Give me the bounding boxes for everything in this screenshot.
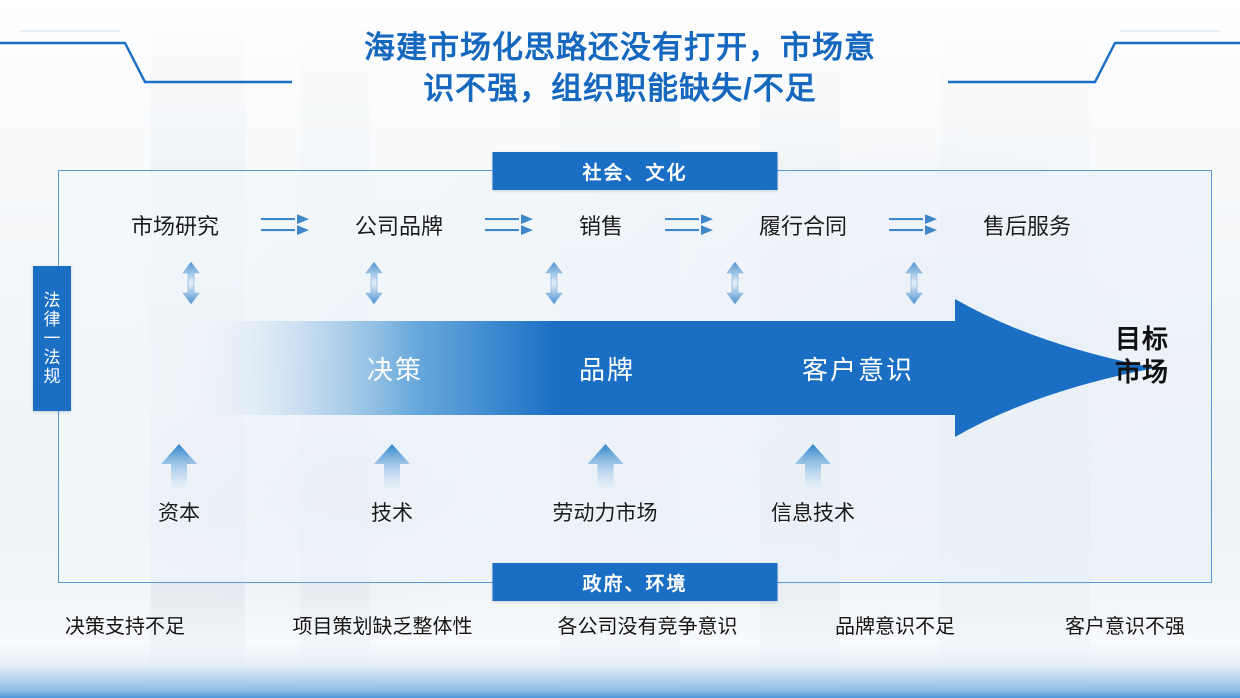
problem-project-planning: 项目策划缺乏整体性: [250, 610, 515, 639]
arrow-label-brand: 品牌: [579, 350, 635, 387]
input-factor-label: 资本: [158, 497, 200, 527]
flow-node-market-research: 市场研究: [131, 209, 219, 241]
flow-node-sales: 销售: [579, 209, 623, 241]
band-society-culture: 社会、文化: [493, 152, 778, 190]
side-label-char-3: 法: [44, 348, 61, 367]
flow-node-after-sales-service: 售后服务: [983, 209, 1071, 241]
side-label-char-4: 规: [44, 367, 61, 386]
problem-decision-support: 决策支持不足: [0, 610, 250, 639]
up-arrow-icon: [586, 443, 624, 493]
footer-gradient-band: [0, 642, 1240, 698]
input-factors-row: 资本 技术 劳动力市场 信息技术: [179, 443, 999, 533]
up-arrow-icon: [160, 443, 198, 493]
side-label-char-0: 法: [44, 291, 61, 310]
input-factor-capital: 资本: [158, 443, 200, 527]
slide-title-line-2: 识不强，组织职能缺失/不足: [0, 69, 1240, 110]
slide-title: 海建市场化思路还没有打开，市场意 识不强，组织职能缺失/不足: [0, 28, 1240, 110]
arrow-label-decision: 决策: [367, 350, 423, 387]
flow-node-contract-execution: 履行合同: [759, 209, 847, 241]
input-factor-labor-market: 劳动力市场: [553, 443, 658, 527]
input-factor-label: 技术: [371, 497, 413, 527]
band-government-environment: 政府、环境: [493, 563, 778, 601]
flow-arrow-icon: [485, 211, 537, 239]
problem-no-competition: 各公司没有竞争意识: [515, 610, 780, 639]
side-label-char-2: 一: [44, 329, 61, 348]
input-factor-information-technology: 信息技术: [771, 443, 855, 527]
problem-statements-row: 决策支持不足 项目策划缺乏整体性 各公司没有竞争意识 品牌意识不足 客户意识不强: [0, 610, 1240, 639]
up-arrow-icon: [794, 443, 832, 493]
side-label-char-1: 律: [44, 310, 61, 329]
main-arrow-labels: 决策 品牌 客户意识: [155, 299, 1155, 437]
flow-arrow-icon: [665, 211, 717, 239]
input-factor-label: 劳动力市场: [553, 497, 658, 527]
problem-brand-awareness: 品牌意识不足: [780, 610, 1010, 639]
flow-arrow-icon: [261, 211, 313, 239]
flow-arrow-icon: [889, 211, 941, 239]
problem-customer-awareness: 客户意识不强: [1010, 610, 1240, 639]
target-market-line-1: 目标: [1087, 323, 1197, 356]
target-market-line-2: 市场: [1087, 356, 1197, 389]
side-label-law-regulation: 法 律 一 法 规: [33, 266, 71, 411]
diagram-container: 社会、文化 政府、环境 法 律 一 法 规 市场研究 公司品牌: [58, 170, 1212, 583]
up-arrow-icon: [373, 443, 411, 493]
input-factor-technology: 技术: [371, 443, 413, 527]
slide-title-line-1: 海建市场化思路还没有打开，市场意: [0, 28, 1240, 69]
target-market-label: 目标 市场: [1087, 323, 1197, 388]
arrow-label-customer-awareness: 客户意识: [802, 350, 914, 387]
input-factor-label: 信息技术: [771, 497, 855, 527]
flow-node-company-brand: 公司品牌: [355, 209, 443, 241]
process-flow-row: 市场研究 公司品牌 销售: [131, 209, 1071, 241]
